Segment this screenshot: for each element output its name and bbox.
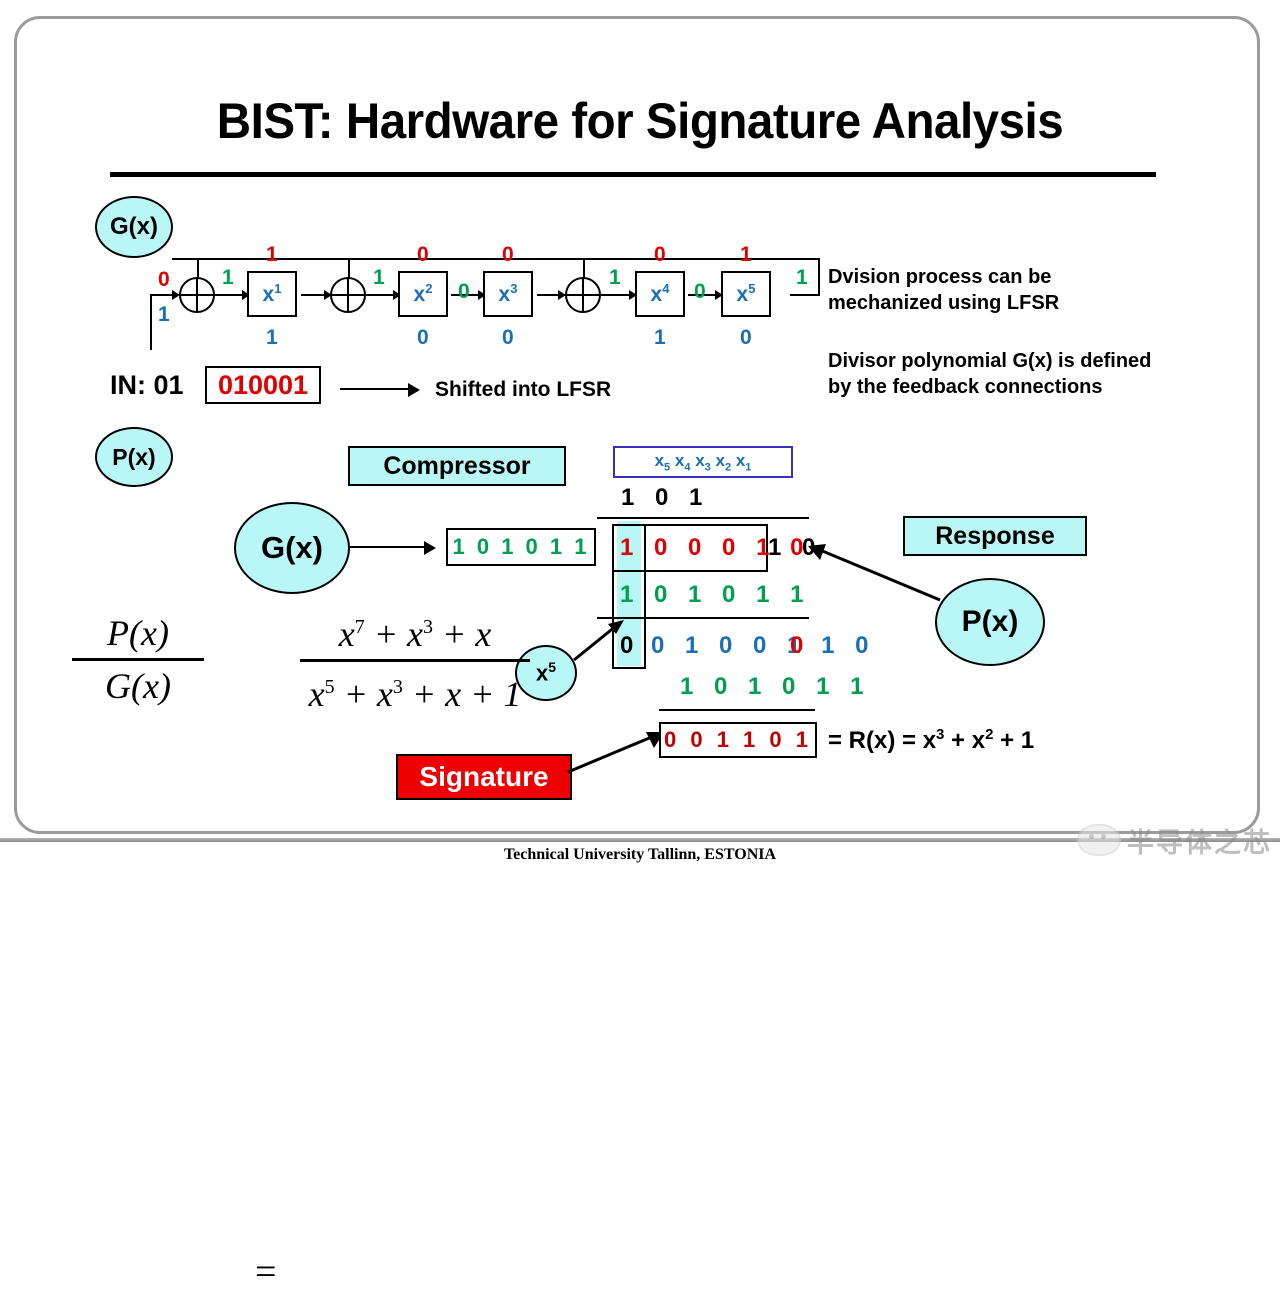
formula-equals: = (255, 1250, 276, 1294)
shift-arrow-line (340, 388, 412, 390)
rx-mid: + x (944, 727, 985, 754)
division-rule-bottom (659, 709, 815, 711)
input-bits-box: 010001 (205, 366, 321, 404)
shifted-into-lfsr-label: Shifted into LFSR (435, 378, 611, 402)
lfsr-state-header-box: x5 x4 x3 x2 x1 (613, 446, 793, 478)
register-x1-exp: 1 (274, 281, 281, 296)
bit-bottom-x5: 0 (740, 326, 752, 350)
input-vertical-wire (150, 294, 152, 350)
bit-xor3-out: 1 (609, 266, 621, 290)
xor-gate-1 (179, 277, 215, 313)
signature-pointer-arrow (566, 722, 668, 780)
rx-suffix: + 1 (993, 727, 1034, 754)
formula-right-bar (300, 659, 530, 662)
bit-input-red: 0 (158, 268, 170, 292)
register-x4: x4 (635, 271, 685, 317)
bit-bottom-x3: 0 (502, 326, 514, 350)
px-circle-response: P(x) (935, 578, 1045, 666)
px-circle-left: P(x) (95, 427, 173, 487)
remainder-box: 0 0 1 1 0 1 (659, 722, 817, 758)
page-title: BIST: Hardware for Signature Analysis (32, 92, 1248, 150)
bit-bottom-x2: 0 (417, 326, 429, 350)
formula-right-fraction: x7 + x3 + x x5 + x3 + x + 1 (300, 605, 530, 716)
bit-top-x2: 0 (417, 243, 429, 267)
division-partial-rest: 0 1 0 0 1 1 0 (651, 632, 875, 660)
division-quotient: 1 0 1 (621, 484, 709, 512)
arrow-x3-xor3 (558, 290, 566, 300)
signature-box: Signature (396, 754, 572, 800)
feedback-from-x5 (818, 258, 820, 296)
bit-xor2-out: 1 (373, 266, 385, 290)
register-x2: x2 (398, 271, 448, 317)
formula-right-denominator: x5 + x3 + x + 1 (300, 665, 530, 716)
input-label: IN: 01 (110, 370, 184, 401)
bit-top-x3: 0 (502, 243, 514, 267)
bit-feedback: 1 (796, 266, 808, 290)
bit-top-x4: 0 (654, 243, 666, 267)
remainder-polynomial-text: = R(x) = x3 + x2 + 1 (828, 726, 1034, 755)
register-x1: x1 (247, 271, 297, 317)
formula-left-denominator: G(x) (72, 664, 204, 708)
bit-input-blue: 1 (158, 303, 170, 327)
bit-x2-out: 0 (458, 280, 470, 304)
watermark: 半导体之芯 (1000, 812, 1272, 868)
gx-circle-divisor: G(x) (234, 502, 350, 594)
gx-circle-lfsr: G(x) (95, 196, 173, 258)
bit-bottom-x4: 1 (654, 326, 666, 350)
formula-left-fraction: P(x) G(x) (72, 611, 204, 708)
x5-out-wire (790, 294, 820, 296)
division-partial-last: 0 (790, 632, 810, 660)
x5-pointer-arrow (568, 612, 630, 672)
formula-left-numerator: P(x) (72, 611, 204, 655)
wire-xor2-x2 (366, 294, 396, 296)
wechat-logo-icon (1077, 824, 1121, 856)
register-x5: x5 (721, 271, 771, 317)
rx-prefix: = R(x) = x (828, 727, 936, 754)
title-divider (110, 172, 1156, 177)
division-formula: P(x) G(x) = x7 + x3 + x x5 + x3 + x + 1 (72, 605, 472, 723)
bit-x4-out: 0 (694, 280, 706, 304)
register-x3-exp: 3 (510, 281, 517, 296)
response-pointer-arrow (800, 528, 950, 608)
note-divisor-polynomial: Divisor polynomial G(x) is defined by th… (828, 348, 1158, 400)
register-x3: x3 (483, 271, 533, 317)
shift-arrow-head (408, 383, 420, 397)
gx-to-bits-arrow (424, 541, 436, 555)
gx-to-bits-wire (350, 546, 428, 548)
register-x5-exp: 5 (748, 281, 755, 296)
watermark-text: 半导体之芯 (1127, 821, 1272, 860)
note-division-process: Dvision process can be mechanized using … (828, 264, 1158, 316)
formula-left-bar (72, 658, 204, 661)
division-subtrahend-2: 1 0 1 0 1 1 (680, 673, 870, 701)
bit-xor1-out: 1 (222, 266, 234, 290)
register-x4-exp: 4 (662, 281, 669, 296)
gx-bits-box: 1 0 1 0 1 1 (446, 528, 596, 566)
compressor-box: Compressor (348, 446, 566, 486)
xor-gate-3 (565, 277, 601, 313)
formula-right-numerator: x7 + x3 + x (300, 605, 530, 656)
xor-gate-2 (330, 277, 366, 313)
bit-bottom-x1: 1 (266, 326, 278, 350)
bit-top-x1: 1 (266, 243, 278, 267)
register-x2-exp: 2 (425, 281, 432, 296)
arrow-x1-xor2 (324, 290, 332, 300)
bit-top-x5: 1 (740, 243, 752, 267)
x5-circle-label: x5 (536, 659, 556, 686)
slide-canvas: BIST: Hardware for Signature Analysis G(… (0, 0, 1280, 886)
division-rule-top (597, 517, 809, 519)
wire-xor1-x1 (215, 294, 245, 296)
state-header-text: x5 x4 x3 x2 x1 (655, 451, 752, 473)
division-subtrahend-1: 1 0 1 0 1 1 (620, 581, 810, 609)
